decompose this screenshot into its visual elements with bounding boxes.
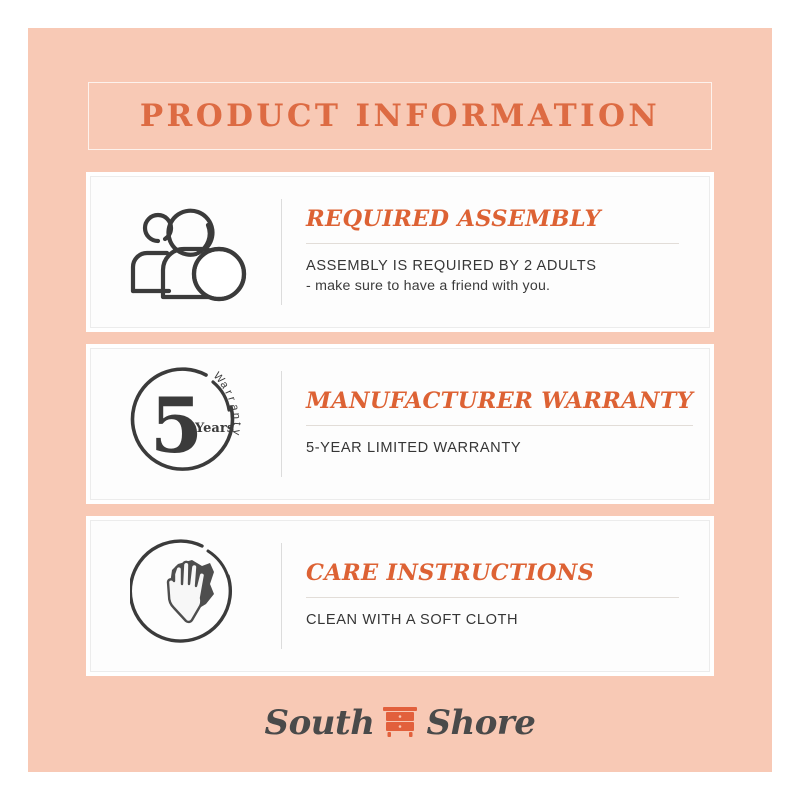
card-text: REQUIRED ASSEMBLY ASSEMBLY IS REQUIRED B… [282, 177, 709, 327]
page-title: PRODUCT INFORMATION [140, 98, 660, 134]
five-year-warranty-seal-icon: 5 Years W a r r a n t y [124, 364, 248, 485]
card-text: MANUFACTURER WARRANTY 5-YEAR LIMITED WAR… [282, 349, 723, 499]
svg-text:a: a [228, 403, 241, 412]
page-title-box: PRODUCT INFORMATION [88, 82, 712, 150]
card-body-secondary: - make sure to have a friend with you. [306, 276, 679, 297]
icon-cell [91, 543, 282, 649]
heading-divider [306, 243, 679, 244]
brand-word-south: South [265, 703, 375, 743]
nightstand-icon [380, 700, 420, 745]
svg-text:r: r [225, 395, 238, 402]
two-people-with-count-icon [123, 198, 249, 307]
card-body-primary: ASSEMBLY IS REQUIRED BY 2 ADULTS [306, 257, 679, 277]
icon-cell: 2 [91, 199, 282, 305]
svg-text:n: n [230, 412, 242, 419]
heading-divider [306, 597, 679, 598]
info-card-required-assembly: 2 REQUIRED ASSEMBLY ASSEMBLY IS REQUIRED… [90, 176, 710, 328]
icon-cell: 5 Years W a r r a n t y [91, 371, 282, 477]
heading-divider [306, 425, 693, 426]
brand-logo: South Shore [28, 700, 772, 745]
hand-with-cloth-icon [130, 538, 242, 655]
card-body-primary: CLEAN WITH A SOFT CLOTH [306, 611, 679, 631]
card-text: CARE INSTRUCTIONS CLEAN WITH A SOFT CLOT… [282, 521, 709, 671]
warranty-years-label: Years [194, 421, 234, 436]
info-card-care-instructions: CARE INSTRUCTIONS CLEAN WITH A SOFT CLOT… [90, 520, 710, 672]
poster-canvas: PRODUCT INFORMATION [28, 28, 772, 772]
card-heading: REQUIRED ASSEMBLY [306, 207, 679, 232]
card-body-primary: 5-YEAR LIMITED WARRANTY [306, 439, 693, 459]
card-heading: MANUFACTURER WARRANTY [306, 389, 693, 414]
info-card-manufacturer-warranty: 5 Years W a r r a n t y [90, 348, 710, 500]
card-heading: CARE INSTRUCTIONS [306, 561, 679, 586]
brand-word-shore: Shore [426, 703, 535, 743]
